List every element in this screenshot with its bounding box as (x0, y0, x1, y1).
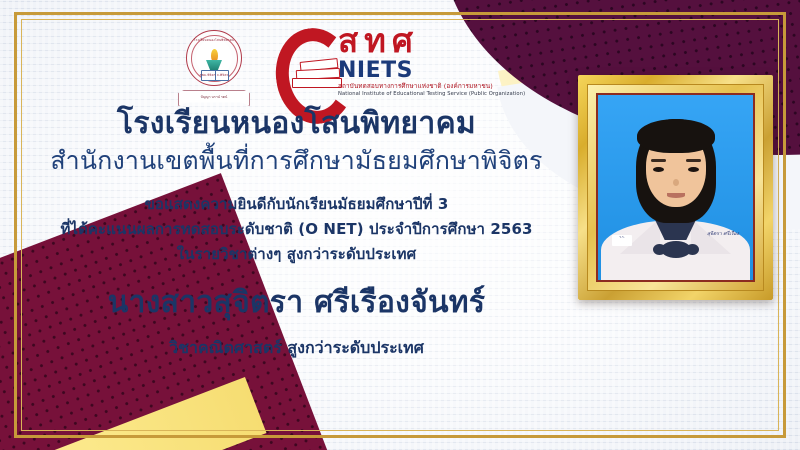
stacked-books-icon (290, 58, 342, 92)
certificate-text-block: โรงเรียนหนองโสนพิทยาคม สำนักงานเขตพื้นที… (24, 104, 569, 360)
uniform-badge-text: ร.ร. (612, 235, 632, 240)
portrait-eyebrow-left (651, 159, 666, 162)
portrait-mouth (667, 193, 685, 198)
school-seal-inner (196, 39, 232, 76)
student-name: นางสาวสุจิตรา ศรีเรืองจันทร์ (24, 283, 569, 323)
student-portrait: ร.ร. สุจิตรา ศรีเรือง (598, 95, 753, 280)
seal-arc-bottom-text: สพม.พิจิตร จ.พิจิตร (187, 73, 241, 78)
uniform-name-badge: ร.ร. (612, 235, 632, 246)
niets-thai-subtitle: สถาบันทดสอบทางการศึกษาแห่งชาติ (องค์การม… (338, 81, 493, 91)
portrait-eye-right (688, 167, 699, 172)
niets-thai-acronym: สทศ (338, 24, 419, 58)
body-line-2: ที่ได้คะแนนผลการทดสอบระดับชาติ (O NET) ป… (24, 217, 569, 242)
school-name-heading: โรงเรียนหนองโสนพิทยาคม (24, 104, 569, 144)
uniform-embroidered-name: สุจิตรา ศรีเรือง (707, 230, 739, 238)
congratulation-body: ขอแสดงความยินดีกับนักเรียนมัธยมศึกษาปีที… (24, 192, 569, 267)
school-logo: โรงเรียนหนองโสนพิทยาคม สพม.พิจิตร จ.พิจิ… (178, 30, 248, 108)
portrait-eyebrow-right (686, 159, 701, 162)
seal-arc-top-text: โรงเรียนหนองโสนพิทยาคม (187, 38, 241, 43)
niets-english-acronym: NIETS (338, 58, 413, 83)
subject-achievement-line: วิชาคณิตศาสตร์ สูงกว่าระดับประเทศ (24, 336, 569, 360)
certificate-card: โรงเรียนหนองโสนพิทยาคม สพม.พิจิตร จ.พิจิ… (0, 0, 800, 450)
area-office-subheading: สำนักงานเขตพื้นที่การศึกษามัธยมศึกษาพิจิ… (24, 144, 569, 178)
body-line-3: ในรายวิชาต่างๆ สูงกว่าระดับประเทศ (24, 242, 569, 267)
seal-ribbon-text: ปัญญา นรานํ รตนํ (179, 91, 249, 103)
niets-english-subtitle: National Institute of Educational Testin… (338, 91, 525, 97)
portrait-nose (673, 179, 679, 186)
portrait-bow-tie (661, 241, 691, 258)
school-seal-icon: โรงเรียนหนองโสนพิทยาคม สพม.พิจิตร จ.พิจิ… (186, 30, 242, 86)
portrait-eye-left (653, 167, 664, 172)
student-photo-frame: ร.ร. สุจิตรา ศรีเรือง (578, 75, 773, 300)
niets-logo: สทศ NIETS สถาบันทดสอบทางการศึกษาแห่งชาติ… (272, 22, 522, 112)
portrait-fringe (637, 119, 715, 153)
body-line-1: ขอแสดงความยินดีกับนักเรียนมัธยมศึกษาปีที… (24, 192, 569, 217)
